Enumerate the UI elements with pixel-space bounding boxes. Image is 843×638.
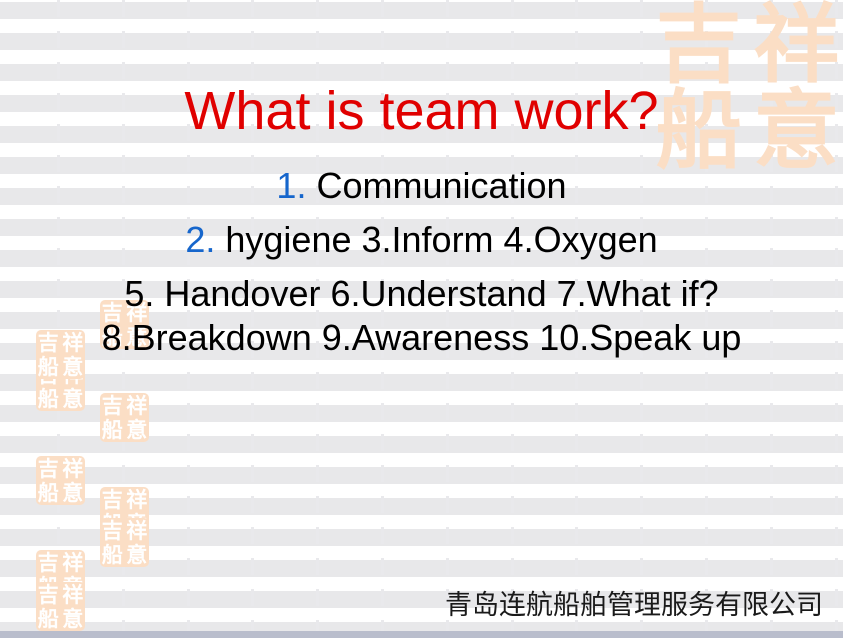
list-item-label: 8.Breakdown 9.Awareness 10.Speak up xyxy=(102,317,742,358)
list-item: 8.Breakdown 9.Awareness 10.Speak up xyxy=(0,317,843,359)
list-item: 1. Communication xyxy=(0,165,843,207)
seal-char: 吉 xyxy=(656,2,742,88)
list-marker: 2. xyxy=(185,219,215,260)
list-item: 2. hygiene 3.Inform 4.Oxygen xyxy=(0,219,843,261)
list-item-label: 5. Handover 6.Understand 7.What if? xyxy=(124,273,718,314)
presentation-slide: 吉 祥 船 意 吉祥船意吉祥船意吉祥船意吉祥船意吉祥船意吉祥船意吉祥船意吉祥船意… xyxy=(0,0,843,638)
list-item: 5. Handover 6.Understand 7.What if? xyxy=(0,273,843,315)
list-item-label: Communication xyxy=(316,165,566,206)
bottom-accent-bar xyxy=(0,631,843,638)
footer-company-name: 青岛连航船舶管理服务有限公司 xyxy=(0,590,823,622)
list-item-label: hygiene 3.Inform 4.Oxygen xyxy=(225,219,657,260)
list-marker: 1. xyxy=(276,165,306,206)
page-title: What is team work? xyxy=(0,82,843,140)
seal-char: 祥 xyxy=(753,2,839,88)
